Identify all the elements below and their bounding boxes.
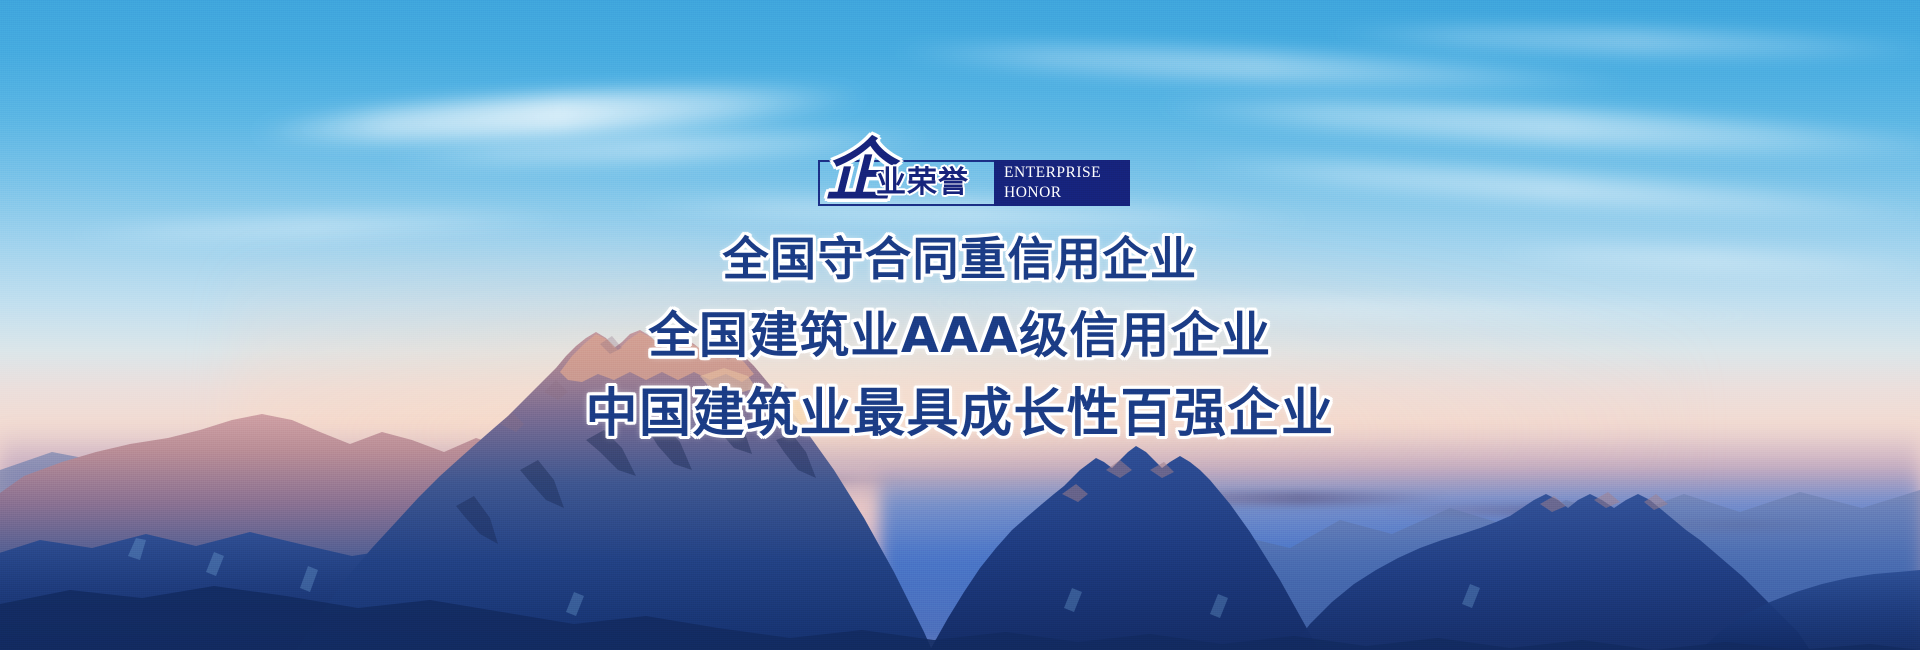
badge-chinese-label: 业荣誉: [876, 164, 969, 202]
headline-line-1: 全国守合同重信用企业: [0, 236, 1920, 282]
badge-english-label: ENTERPRISE HONOR: [1004, 163, 1128, 203]
headline-line-2: 全国建筑业AAA级信用企业: [0, 311, 1920, 360]
headline-group: 全国守合同重信用企业 全国建筑业AAA级信用企业 中国建筑业最具成长性百强企业: [0, 198, 1920, 440]
ridge-mid-right: [930, 446, 1318, 650]
headline-line-3: 中国建筑业最具成长性百强企业: [0, 388, 1920, 440]
badge-english-line-1: ENTERPRISE: [1004, 163, 1128, 183]
enterprise-honor-banner: 企 业荣誉 ENTERPRISE HONOR 全国守合同重信用企业 全国建筑业A…: [0, 0, 1920, 650]
